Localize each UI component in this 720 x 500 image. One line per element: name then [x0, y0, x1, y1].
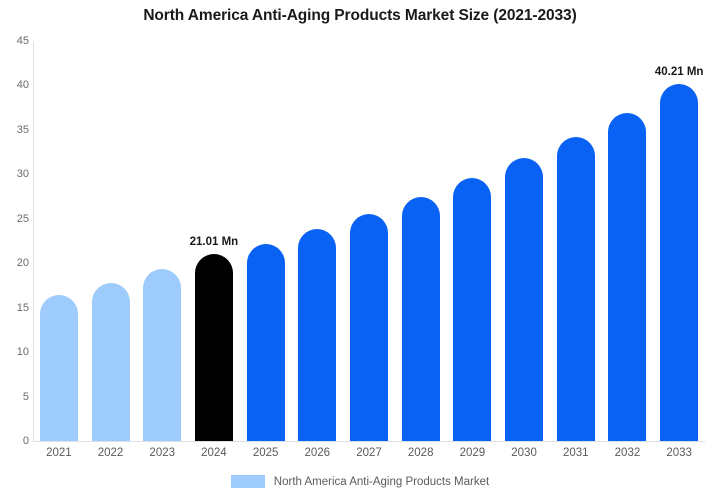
x-axis-tick-label: 2033 [649, 447, 709, 459]
bar-2027[interactable] [350, 214, 388, 441]
bar-slot [402, 41, 440, 441]
chart-legend: North America Anti-Aging Products Market [0, 475, 720, 488]
bar-2028[interactable] [402, 197, 440, 441]
bar-2021[interactable] [40, 295, 78, 441]
bar-value-label-2033: 40.21 Mn [655, 66, 704, 78]
bar-slot: 40.21 Mn [660, 41, 698, 441]
bar-slot: 21.01 Mn [195, 41, 233, 441]
bar-slot [92, 41, 130, 441]
bar-value-label-2024: 21.01 Mn [190, 236, 239, 248]
y-axis-tick-label: 0 [3, 435, 29, 447]
bar-slot [247, 41, 285, 441]
bar-2030[interactable] [505, 158, 543, 441]
bar-slot [453, 41, 491, 441]
bar-slot [298, 41, 336, 441]
bar-slot [557, 41, 595, 441]
bar-2025[interactable] [247, 244, 285, 441]
y-axis-tick-label: 10 [3, 346, 29, 358]
y-axis-tick-label: 5 [3, 391, 29, 403]
bar-2026[interactable] [298, 229, 336, 441]
bar-slot [505, 41, 543, 441]
plot-area: 21.01 Mn40.21 Mn [33, 41, 705, 441]
y-axis-tick-label: 45 [3, 35, 29, 47]
bar-slot [350, 41, 388, 441]
bar-2029[interactable] [453, 178, 491, 441]
bar-slot [143, 41, 181, 441]
y-axis-tick-label: 25 [3, 213, 29, 225]
legend-label: North America Anti-Aging Products Market [274, 476, 489, 488]
y-axis-tick-label: 35 [3, 124, 29, 136]
bar-2033[interactable] [660, 84, 698, 441]
bar-2032[interactable] [608, 113, 646, 441]
bar-slot [608, 41, 646, 441]
x-axis-line [33, 441, 705, 442]
y-axis-tick-label: 15 [3, 302, 29, 314]
y-axis-tick-label: 30 [3, 168, 29, 180]
y-axis-tick-label: 20 [3, 257, 29, 269]
legend-swatch-icon [231, 475, 265, 488]
bar-2024[interactable] [195, 254, 233, 441]
bar-2031[interactable] [557, 137, 595, 441]
chart-title: North America Anti-Aging Products Market… [0, 7, 720, 25]
bar-chart: North America Anti-Aging Products Market… [0, 0, 720, 500]
y-axis-tick-labels: 051015202530354045 [0, 41, 29, 441]
y-axis-tick-label: 40 [3, 79, 29, 91]
bar-2023[interactable] [143, 269, 181, 441]
bar-2022[interactable] [92, 283, 130, 441]
bar-slot [40, 41, 78, 441]
x-axis-tick-labels: 2021202220232024202520262027202820292030… [33, 447, 705, 467]
